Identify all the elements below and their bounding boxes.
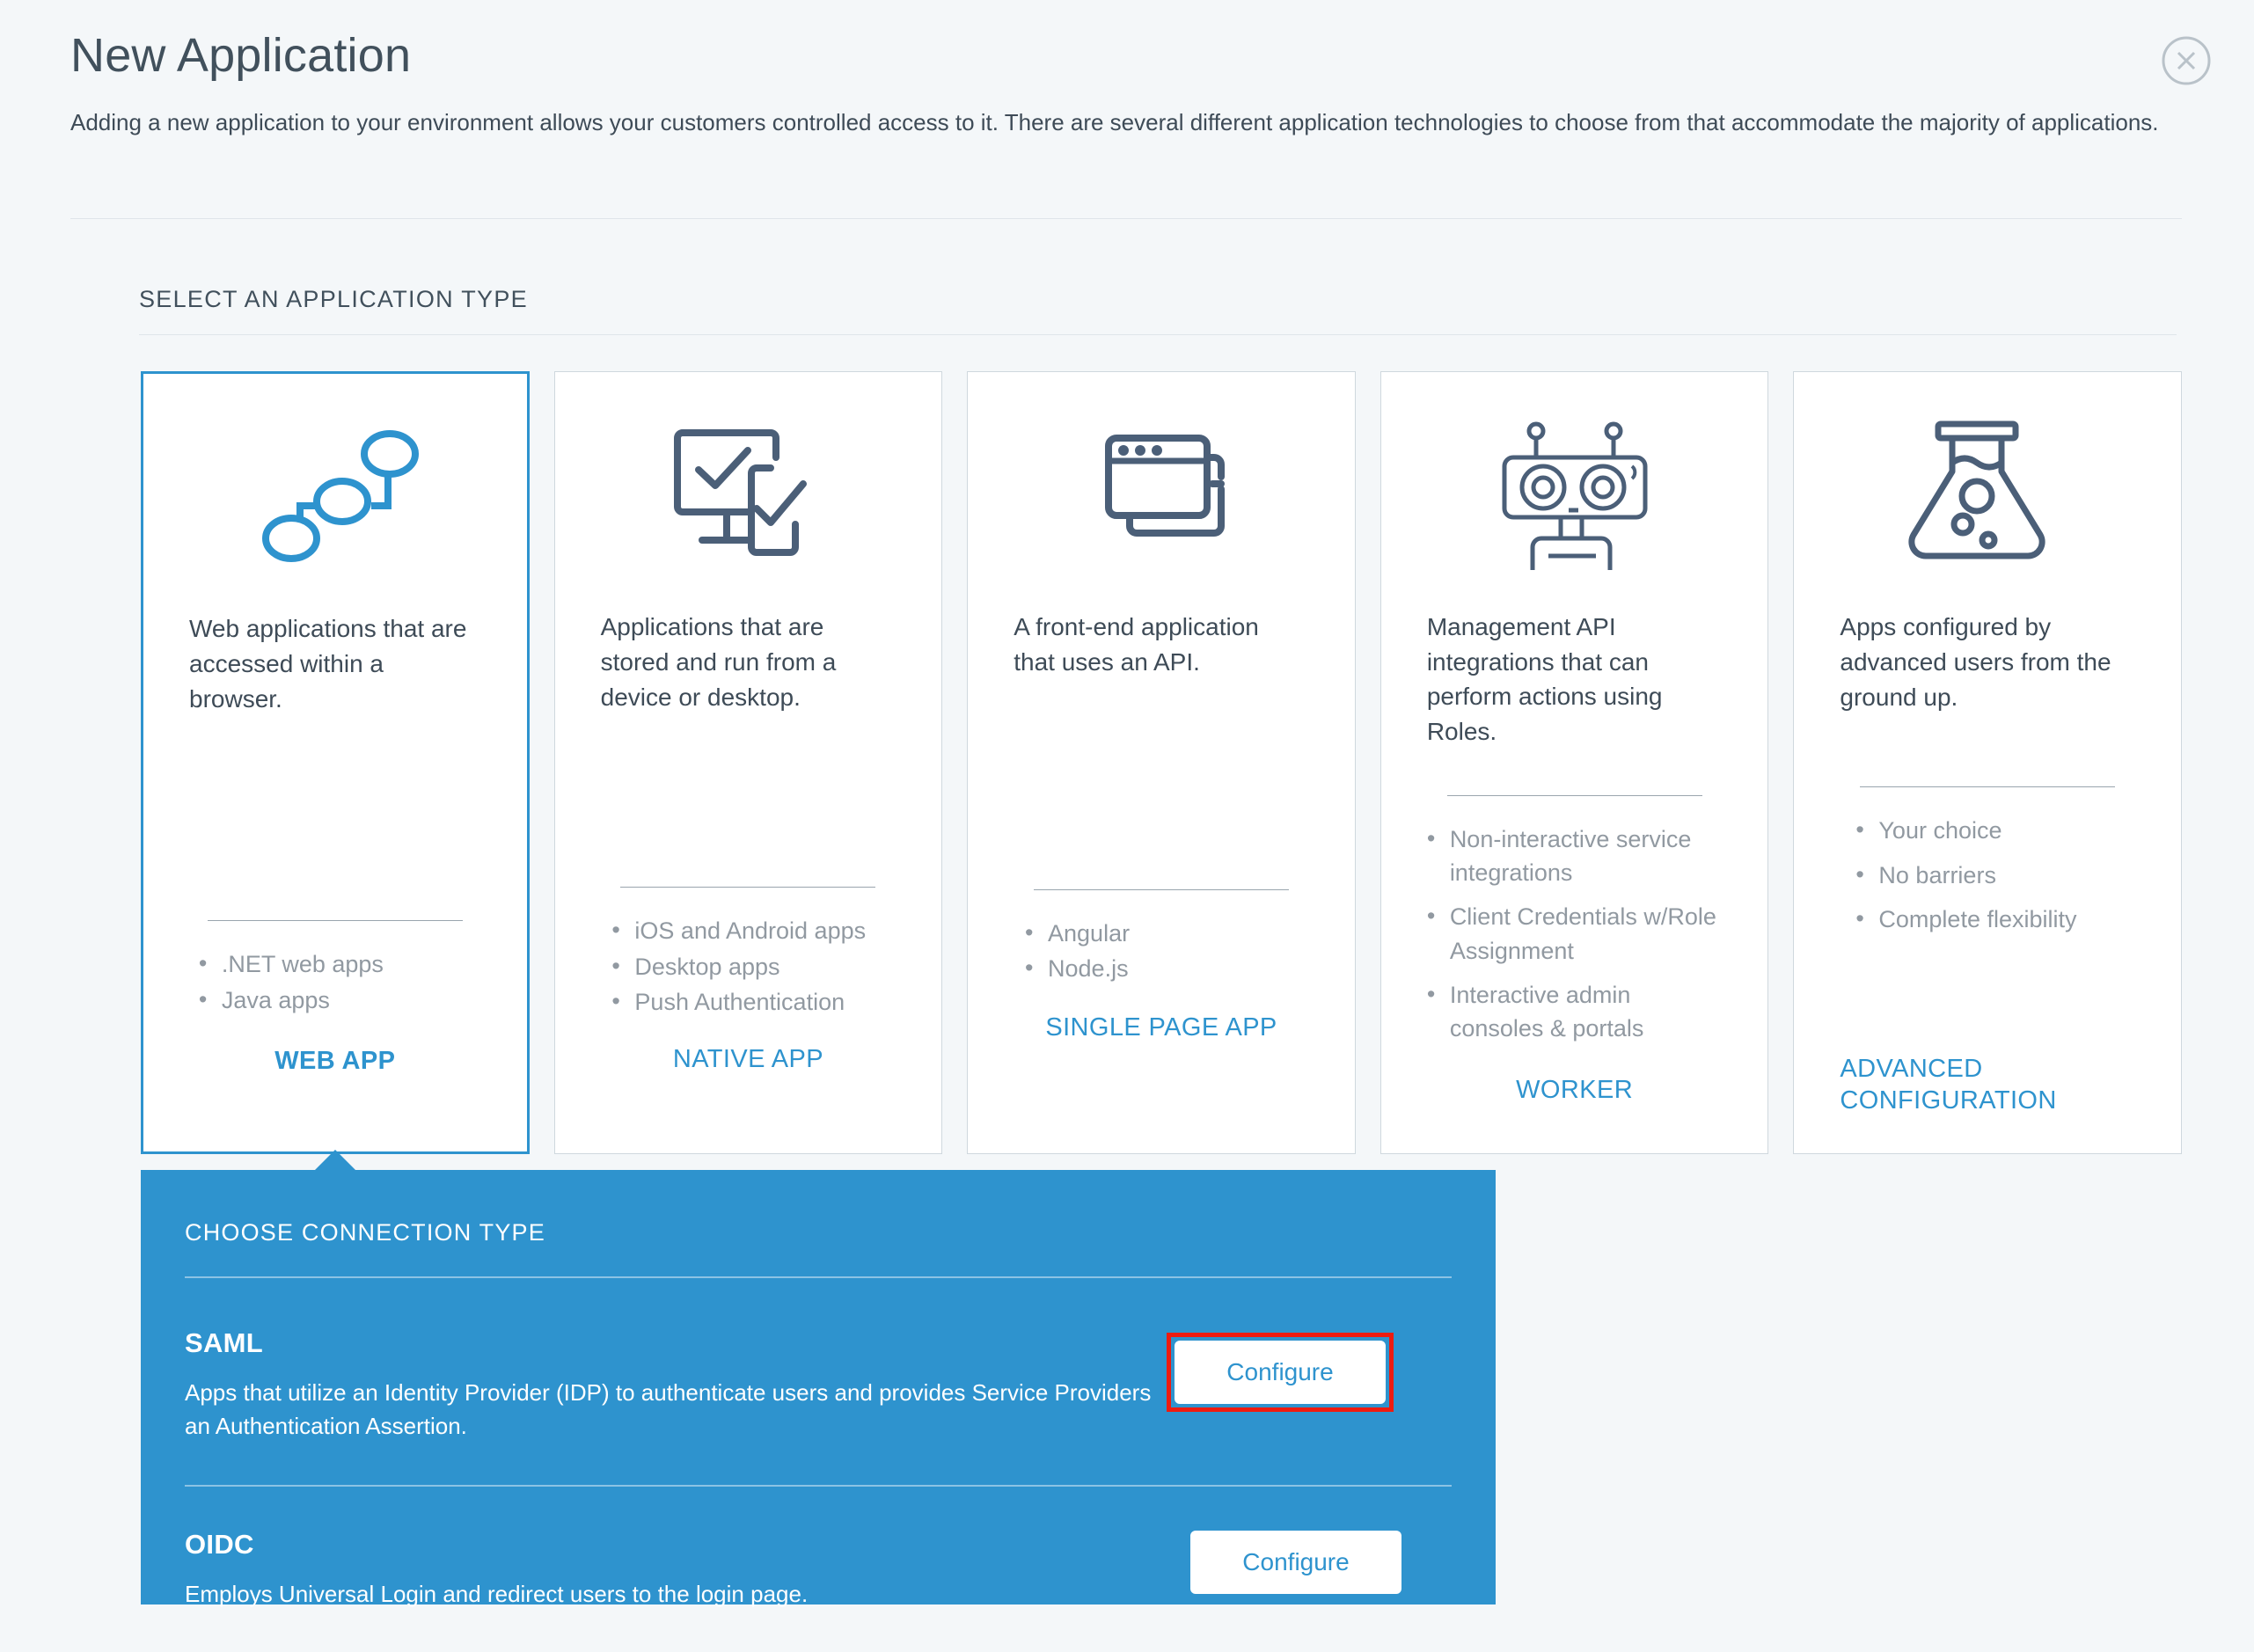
- card-description: Apps configured by advanced users from t…: [1840, 610, 2121, 714]
- list-item: Angular: [1025, 917, 1298, 950]
- card-description: Applications that are stored and run fro…: [601, 610, 882, 714]
- card-bullet-list: Your choice No barriers Complete flexibi…: [1855, 814, 2155, 947]
- connection-row-divider: [185, 1485, 1452, 1487]
- app-type-card-worker[interactable]: Management API integrations that can per…: [1380, 371, 1769, 1154]
- card-divider: [208, 920, 463, 921]
- list-item: Push Authentication: [611, 985, 884, 1019]
- list-item: Client Credentials w/Role Assignment: [1427, 900, 1726, 968]
- card-link-web-app[interactable]: WEB APP: [143, 1045, 527, 1077]
- app-type-card-advanced-configuration[interactable]: Apps configured by advanced users from t…: [1793, 371, 2182, 1154]
- choose-connection-type-panel: CHOOSE CONNECTION TYPE SAML Apps that ut…: [141, 1170, 1496, 1604]
- card-bullet-list: iOS and Android apps Desktop apps Push A…: [611, 914, 884, 1020]
- list-item: No barriers: [1855, 859, 2155, 892]
- flask-icon: [1794, 372, 2181, 610]
- card-bullet-list: Non-interactive service integrations Cli…: [1427, 822, 1726, 1056]
- list-item: Desktop apps: [611, 950, 884, 983]
- page-description: Adding a new application to your environ…: [70, 106, 2184, 139]
- oidc-configure-wrap: Configure: [1190, 1531, 1401, 1594]
- card-bullet-list: Angular Node.js: [1025, 917, 1298, 988]
- application-type-cards: Web applications that are accessed withi…: [141, 371, 2182, 1154]
- connection-description-saml: Apps that utilize an Identity Provider (…: [185, 1377, 1161, 1443]
- card-description: Management API integrations that can per…: [1427, 610, 1709, 749]
- list-item: Non-interactive service integrations: [1427, 822, 1726, 890]
- desktop-and-mobile-check-icon: [555, 372, 942, 610]
- card-link-worker[interactable]: WORKER: [1381, 1074, 1768, 1106]
- dialog-header: New Application Adding a new application…: [0, 0, 2254, 139]
- saml-configure-button[interactable]: Configure: [1175, 1341, 1386, 1404]
- list-item: iOS and Android apps: [611, 914, 884, 947]
- card-link-advanced-configuration[interactable]: ADVANCED CONFIGURATION: [1794, 1053, 2181, 1117]
- new-application-dialog: New Application Adding a new application…: [0, 0, 2254, 1652]
- card-divider: [1034, 889, 1289, 890]
- list-item: Node.js: [1025, 952, 1298, 985]
- close-circle-icon[interactable]: [2161, 35, 2212, 86]
- connection-panel-divider: [185, 1276, 1452, 1278]
- browser-windows-icon: [968, 372, 1355, 610]
- robot-icon: [1381, 372, 1768, 610]
- list-item: Interactive admin consoles & portals: [1427, 978, 1726, 1046]
- connection-panel-title: CHOOSE CONNECTION TYPE: [185, 1170, 1452, 1246]
- card-bullet-list: .NET web apps Java apps: [199, 947, 472, 1019]
- list-item: Complete flexibility: [1855, 903, 2155, 936]
- connection-row-saml: SAML Apps that utilize an Identity Provi…: [185, 1327, 1452, 1443]
- card-link-single-page-app[interactable]: SINGLE PAGE APP: [968, 1012, 1355, 1043]
- card-description: A front-end application that uses an API…: [1014, 610, 1295, 680]
- card-divider: [1860, 786, 2115, 787]
- app-type-card-single-page-app[interactable]: A front-end application that uses an API…: [967, 371, 1356, 1154]
- nodes-graph-icon: [143, 374, 527, 611]
- card-divider: [620, 887, 875, 888]
- connection-name-oidc: OIDC: [185, 1529, 1190, 1561]
- oidc-configure-button[interactable]: Configure: [1190, 1531, 1401, 1594]
- card-divider: [1447, 795, 1702, 796]
- list-item: Your choice: [1855, 814, 2155, 847]
- list-item: .NET web apps: [199, 947, 472, 981]
- app-type-card-web-app[interactable]: Web applications that are accessed withi…: [141, 371, 530, 1154]
- connection-description-oidc: Employs Universal Login and redirect use…: [185, 1578, 1161, 1612]
- section-divider: [139, 334, 2177, 335]
- connection-row-oidc: OIDC Employs Universal Login and redirec…: [185, 1529, 1452, 1612]
- list-item: Java apps: [199, 983, 472, 1017]
- connection-name-saml: SAML: [185, 1327, 1167, 1359]
- section-label: SELECT AN APPLICATION TYPE: [139, 286, 528, 313]
- card-description: Web applications that are accessed withi…: [189, 611, 471, 716]
- app-type-card-native-app[interactable]: Applications that are stored and run fro…: [554, 371, 943, 1154]
- card-link-native-app[interactable]: NATIVE APP: [555, 1043, 942, 1075]
- page-title: New Application: [70, 30, 2184, 82]
- saml-configure-highlight: Configure: [1167, 1333, 1394, 1412]
- header-divider: [70, 218, 2182, 219]
